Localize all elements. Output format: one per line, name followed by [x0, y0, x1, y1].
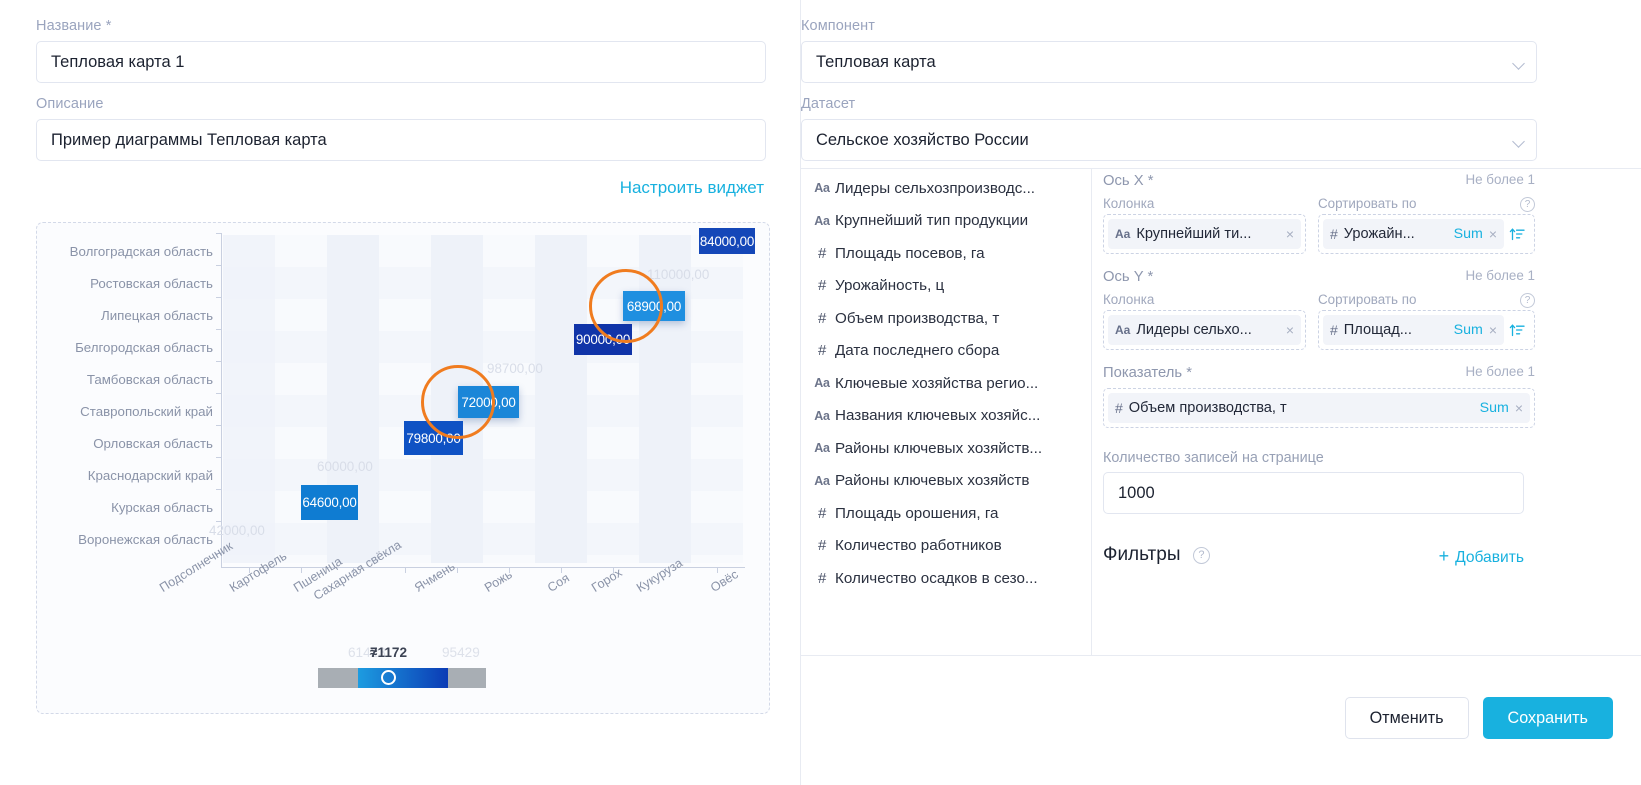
y-axis-tick [216, 457, 221, 458]
number-type-icon: # [809, 342, 835, 359]
add-filter-button[interactable]: +Добавить [1439, 546, 1524, 567]
component-label: Компонент [801, 18, 1537, 34]
measure-header: Показатель * Не более 1 [1103, 364, 1535, 384]
right-pane: Компонент Тепловая карта Датасет Сельско… [801, 0, 1641, 785]
field-list-item-label: Количество осадков в сезо... [835, 570, 1082, 587]
field-list-item-label: Количество работников [835, 537, 1082, 554]
axis-y-sort-label: Сортировать по [1318, 292, 1535, 310]
description-field-label: Описание [36, 96, 766, 112]
axis-y-column-dropzone[interactable]: Aa Лидеры сельхо... × [1103, 310, 1306, 350]
text-type-icon: Aa [1115, 323, 1130, 337]
left-edge-accent [0, 352, 5, 394]
legend-track-gradient[interactable] [358, 668, 448, 688]
heatmap-ghost-label: 98700,00 [487, 361, 543, 376]
fields-config-divider [1091, 169, 1092, 655]
measure-block: Показатель * Не более 1 # Объем производ… [1103, 364, 1535, 428]
x-axis-tick-label: Рожь [482, 567, 515, 595]
component-field-group: Компонент Тепловая карта [801, 18, 1537, 83]
field-list-item-label: Дата последнего сбора [835, 342, 1082, 359]
filters-section: Фильтры ? +Добавить [1103, 544, 1535, 570]
number-type-icon: # [809, 537, 835, 554]
y-axis-tick [216, 329, 221, 330]
axis-x-column-chip[interactable]: Aa Крупнейший ти... × [1108, 219, 1301, 249]
axis-x-block: Ось X * Не более 1 Колонка Aa Крупнейший… [1103, 172, 1535, 254]
axis-x-column-chip-label: Крупнейший ти... [1136, 226, 1279, 242]
heatmap-cell[interactable]: 64600,00 [301, 485, 358, 520]
heatmap-cell-value: 64600,00 [302, 495, 356, 510]
remove-icon[interactable]: × [1489, 322, 1497, 338]
y-axis-tick [216, 233, 221, 234]
axis-x-column-label: Колонка [1103, 196, 1306, 214]
field-list-item-label: Названия ключевых хозяйс... [835, 407, 1082, 424]
x-axis-tick [405, 567, 406, 573]
title-field-label: Название * [36, 18, 766, 34]
field-list-item[interactable]: Aa Ключевые хозяйства регио... [801, 367, 1090, 400]
records-per-page-label: Количество записей на странице [1103, 450, 1535, 466]
records-per-page-block: Количество записей на странице 1000 [1103, 450, 1535, 514]
field-list-item-label: Ключевые хозяйства регио... [835, 375, 1082, 392]
y-axis-tick-label: Тамбовская область [87, 371, 213, 389]
field-list-item-label: Площадь орошения, га [835, 505, 1082, 522]
heatmap-cell-value: 84000,00 [700, 234, 754, 249]
measure-dropzone[interactable]: # Объем производства, т Sum × [1103, 388, 1535, 428]
field-list-item[interactable]: # Площадь орошения, га [801, 497, 1090, 530]
legend-track-right[interactable] [448, 668, 486, 688]
filters-title: Фильтры [1103, 544, 1180, 566]
dataset-select[interactable]: Сельское хозяйство России [801, 119, 1537, 161]
y-axis-tick [216, 361, 221, 362]
y-axis-tick [216, 393, 221, 394]
highlight-ring-icon [589, 269, 663, 343]
number-type-icon: # [1115, 400, 1123, 416]
component-select[interactable]: Тепловая карта [801, 41, 1537, 83]
y-axis-tick [216, 489, 221, 490]
y-axis-tick-label: Курская область [111, 499, 213, 517]
axis-x-sort-aggregation[interactable]: Sum [1454, 226, 1483, 242]
plus-icon: + [1439, 546, 1450, 566]
axis-y-block: Ось Y * Не более 1 Колонка Aa Лидеры сел… [1103, 268, 1535, 350]
y-axis-tick-label: Орловская область [93, 435, 213, 453]
field-list-item[interactable]: Aa Районы ключевых хозяйств [801, 465, 1090, 498]
description-input[interactable]: Пример диаграммы Тепловая карта [36, 119, 766, 161]
axis-x-column-dropzone[interactable]: Aa Крупнейший ти... × [1103, 214, 1306, 254]
x-axis-tick-label: Овёс [708, 567, 741, 595]
field-list-item[interactable]: # Количество осадков в сезо... [801, 562, 1090, 595]
text-type-icon: Aa [1115, 227, 1130, 241]
number-type-icon: # [809, 277, 835, 294]
number-type-icon: # [1330, 322, 1338, 338]
axis-y-title: Ось Y * [1103, 269, 1153, 285]
number-type-icon: # [809, 245, 835, 262]
field-list-item-label: Площадь посевов, га [835, 245, 1082, 262]
y-axis-tick [216, 425, 221, 426]
number-type-icon: # [809, 505, 835, 522]
heatmap-chart: Волгоградская область Ростовская область… [37, 223, 771, 715]
axis-y-sort-chip-label: Площад... [1344, 322, 1448, 338]
y-axis-tick [216, 297, 221, 298]
measure-title: Показатель * [1103, 365, 1192, 381]
left-pane: Название * Тепловая карта 1 Описание При… [0, 0, 800, 785]
heatmap-ghost-label: 42000,00 [209, 523, 265, 538]
axis-y-header: Ось Y * Не более 1 [1103, 268, 1535, 288]
title-field-group: Название * Тепловая карта 1 [36, 18, 766, 83]
records-per-page-input[interactable]: 1000 [1103, 472, 1524, 514]
field-list-item-label: Урожайность, ц [835, 277, 1082, 294]
chart-preview-card: Волгоградская область Ростовская область… [36, 222, 770, 714]
help-icon[interactable]: ? [1520, 293, 1535, 308]
field-list-item[interactable]: # Количество работников [801, 530, 1090, 563]
field-list-item[interactable]: Aa Лидеры сельхозпроизводс... [801, 172, 1090, 205]
axis-y-sort-col: Сортировать по ? # Площад... Sum × [1318, 292, 1535, 350]
field-list-item-label: Крупнейший тип продукции [835, 212, 1082, 229]
axis-y-column-chip-label: Лидеры сельхо... [1136, 322, 1279, 338]
axis-x-sort-chip[interactable]: # Урожайн... Sum × [1323, 219, 1504, 249]
measure-aggregation[interactable]: Sum [1480, 400, 1509, 416]
axis-x-sort-col: Сортировать по ? # Урожайн... Sum × [1318, 196, 1535, 254]
x-axis-tick-label: Соя [545, 571, 572, 595]
add-filter-label: Добавить [1455, 549, 1524, 566]
y-axis-tick-label: Липецкая область [101, 307, 213, 325]
axis-x-sort-dropzone[interactable]: # Урожайн... Sum × [1318, 214, 1535, 254]
widget-editor-page: Название * Тепловая карта 1 Описание При… [0, 0, 1641, 785]
text-type-icon: Aa [809, 474, 835, 488]
component-select-value: Тепловая карта [816, 53, 936, 71]
configure-widget-link[interactable]: Настроить виджет [620, 178, 764, 198]
heatmap-y-axis: Волгоградская область Ростовская область… [45, 231, 213, 561]
legend-slider[interactable] [318, 668, 486, 688]
heatmap-cell[interactable]: 84000,00 [699, 228, 755, 254]
measure-chip-label: Объем производства, т [1129, 400, 1474, 416]
axis-y-column-col: Колонка Aa Лидеры сельхо... × [1103, 292, 1306, 350]
x-axis-tick [301, 567, 302, 573]
y-axis-tick-label: Волгоградская область [70, 243, 213, 261]
text-type-icon: Aa [809, 441, 835, 455]
chevron-down-icon [1512, 57, 1525, 70]
section-divider [801, 168, 1641, 169]
field-list-item-label: Районы ключевых хозяйств [835, 472, 1082, 489]
highlight-ring-icon [421, 365, 495, 439]
grid-row-band [223, 523, 743, 555]
cancel-button[interactable]: Отменить [1345, 697, 1469, 739]
text-type-icon: Aa [809, 376, 835, 390]
heatmap-ghost-label: 110000,00 [647, 267, 709, 282]
number-type-icon: # [1330, 226, 1338, 242]
field-list-item-label: Лидеры сельхозпроизводс... [835, 180, 1082, 197]
axis-y-sort-aggregation[interactable]: Sum [1454, 322, 1483, 338]
axis-y-limit: Не более 1 [1465, 268, 1535, 283]
axis-y-sort-chip[interactable]: # Площад... Sum × [1323, 315, 1504, 345]
sort-ascending-icon[interactable] [1504, 226, 1530, 242]
heatmap-legend: 61423 ≈ 71172 95429 [318, 645, 486, 688]
y-axis-tick-label: Ставропольский край [80, 403, 213, 421]
chart-config-panel: Ось X * Не более 1 Колонка Aa Крупнейший… [1103, 172, 1535, 570]
axis-x-header: Ось X * Не более 1 [1103, 172, 1535, 192]
measure-limit: Не более 1 [1465, 364, 1535, 379]
remove-icon[interactable]: × [1489, 226, 1497, 242]
field-list-item[interactable]: # Объем производства, т [801, 302, 1090, 335]
legend-track-left[interactable] [318, 668, 358, 688]
title-input[interactable]: Тепловая карта 1 [36, 41, 766, 83]
y-axis-tick [216, 521, 221, 522]
dataset-label: Датасет [801, 96, 1537, 112]
y-axis-line [221, 233, 222, 567]
field-list-item[interactable]: Aa Названия ключевых хозяйс... [801, 400, 1090, 433]
axis-x-column-col: Колонка Aa Крупнейший ти... × [1103, 196, 1306, 254]
axis-x-sort-label: Сортировать по [1318, 196, 1535, 214]
axis-y-row: Колонка Aa Лидеры сельхо... × Сортироват… [1103, 292, 1535, 350]
field-list-item[interactable]: Aa Крупнейший тип продукции [801, 205, 1090, 238]
heatmap-ghost-label: 60000,00 [317, 459, 373, 474]
save-button[interactable]: Сохранить [1483, 697, 1613, 739]
y-axis-tick [216, 265, 221, 266]
y-axis-tick-label: Белгородская область [75, 339, 213, 357]
dataset-select-value: Сельское хозяйство России [816, 131, 1029, 149]
y-axis-tick-label: Воронежская область [78, 531, 213, 549]
text-type-icon: Aa [809, 214, 835, 228]
text-type-icon: Aa [809, 181, 835, 195]
field-list-item-label: Районы ключевых хозяйств... [835, 440, 1082, 457]
field-list-item[interactable]: # Дата последнего сбора [801, 335, 1090, 368]
x-axis-tick-label: Горох [589, 565, 625, 594]
x-axis-tick-label: Ячмень [412, 559, 457, 595]
grid-row-band [223, 331, 743, 363]
remove-icon[interactable]: × [1515, 400, 1523, 416]
axis-x-limit: Не более 1 [1465, 172, 1535, 187]
dataset-field-list: Aa Лидеры сельхозпроизводс... Aa Крупней… [801, 172, 1090, 595]
axis-x-sort-chip-label: Урожайн... [1344, 226, 1448, 242]
chevron-down-icon [1512, 135, 1525, 148]
field-list-item[interactable]: Aa Районы ключевых хозяйств... [801, 432, 1090, 465]
legend-values: 61423 ≈ 71172 95429 [318, 645, 486, 665]
y-axis-tick-label: Ростовская область [90, 275, 213, 293]
remove-icon[interactable]: × [1286, 226, 1294, 242]
footer-divider [801, 655, 1641, 656]
number-type-icon: # [809, 570, 835, 587]
axis-y-column-label: Колонка [1103, 292, 1306, 310]
field-list-item[interactable]: # Урожайность, ц [801, 270, 1090, 303]
text-type-icon: Aa [809, 409, 835, 423]
number-type-icon: # [809, 310, 835, 327]
help-icon[interactable]: ? [1520, 197, 1535, 212]
axis-x-title: Ось X * [1103, 173, 1153, 189]
measure-chip[interactable]: # Объем производства, т Sum × [1108, 393, 1530, 423]
axis-y-column-chip[interactable]: Aa Лидеры сельхо... × [1108, 315, 1301, 345]
description-field-group: Описание Пример диаграммы Тепловая карта [36, 96, 766, 161]
axis-y-sort-dropzone[interactable]: # Площад... Sum × [1318, 310, 1535, 350]
field-list-item[interactable]: # Площадь посевов, га [801, 237, 1090, 270]
y-axis-tick-label: Краснодарский край [88, 467, 213, 485]
help-icon[interactable]: ? [1193, 547, 1210, 564]
x-axis-tick [717, 567, 718, 573]
sort-ascending-icon[interactable] [1504, 322, 1530, 338]
dialog-footer: Отменить Сохранить [1345, 697, 1613, 739]
legend-slider-handle[interactable] [381, 670, 396, 685]
axis-x-row: Колонка Aa Крупнейший ти... × Сортироват… [1103, 196, 1535, 254]
legend-max-value: 95429 [442, 645, 480, 660]
legend-current-number: 71172 [370, 645, 407, 660]
dataset-field-group: Датасет Сельское хозяйство России [801, 96, 1537, 161]
field-list-item-label: Объем производства, т [835, 310, 1082, 327]
remove-icon[interactable]: × [1286, 322, 1294, 338]
